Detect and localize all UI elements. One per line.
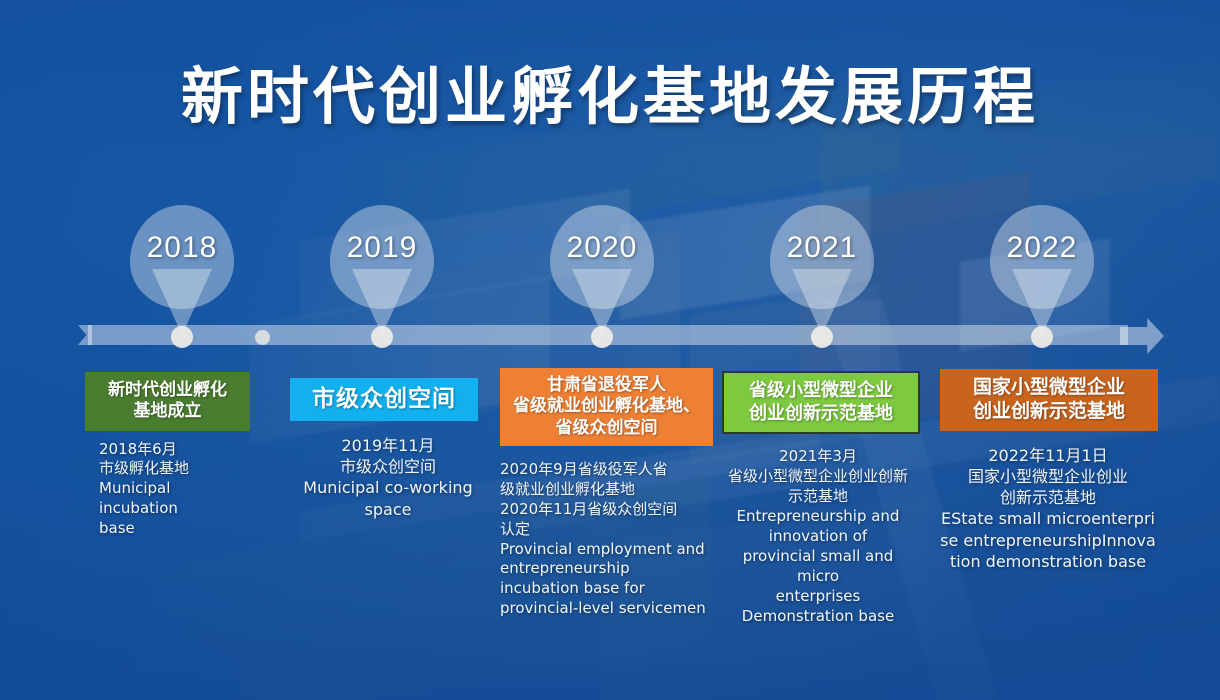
- milestone-2021: 省级小型微型企业 创业创新示范基地 2021年3月 省级小型微型企业创业创新 示…: [722, 371, 922, 626]
- milestone-body: 2022年11月1日 国家小型微型企业创业 创新示范基地 EState smal…: [940, 445, 1156, 573]
- timeline-node-2021[interactable]: [811, 326, 833, 348]
- timeline-axis: [78, 322, 1164, 348]
- infographic-canvas: 新时代创业孵化基地发展历程 2018 2019 2020 2021 2022: [0, 0, 1220, 700]
- milestone-body: 2019年11月 市级众创空间 Municipal co-working spa…: [290, 435, 486, 520]
- milestone-badge: 甘肃省退役军人 省级就业创业孵化基地、 省级众创空间: [500, 368, 713, 446]
- timeline-node-2018[interactable]: [171, 326, 193, 348]
- timeline-node-minor: [255, 330, 270, 345]
- milestone-badge: 新时代创业孵化 基地成立: [85, 372, 250, 431]
- milestone-badge: 省级小型微型企业 创业创新示范基地: [722, 371, 920, 434]
- milestone-2022: 国家小型微型企业 创业创新示范基地 2022年11月1日 国家小型微型企业创业 …: [940, 369, 1160, 572]
- page-title: 新时代创业孵化基地发展历程: [0, 46, 1220, 136]
- milestone-body: 2021年3月 省级小型微型企业创业创新 示范基地 Entrepreneursh…: [722, 447, 914, 626]
- milestone-2020: 甘肃省退役军人 省级就业创业孵化基地、 省级众创空间 2020年9月省级役军人省…: [500, 368, 715, 619]
- milestone-2018: 新时代创业孵化 基地成立 2018年6月 市级孵化基地 Municipal in…: [85, 372, 260, 539]
- timeline-node-2022[interactable]: [1031, 326, 1053, 348]
- milestone-body: 2018年6月 市级孵化基地 Municipal incubation base: [85, 440, 260, 540]
- milestone-badge: 国家小型微型企业 创业创新示范基地: [940, 369, 1158, 431]
- timeline-node-2020[interactable]: [591, 326, 613, 348]
- timeline-node-2019[interactable]: [371, 326, 393, 348]
- milestone-2019: 市级众创空间 2019年11月 市级众创空间 Municipal co-work…: [290, 378, 490, 520]
- milestone-body: 2020年9月省级役军人省 级就业创业孵化基地 2020年11月省级众创空间 认…: [500, 460, 710, 620]
- milestone-badge: 市级众创空间: [290, 378, 478, 421]
